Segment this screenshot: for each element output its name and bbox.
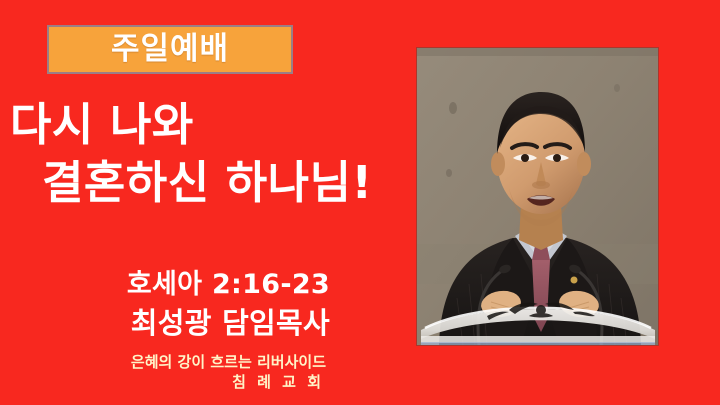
church-name-line-2: 침 례 교 회 — [0, 372, 326, 392]
church-name-line-1: 은혜의 강이 흐르는 리버사이드 — [0, 352, 326, 372]
service-type-banner: 주일예배 — [47, 25, 293, 74]
church-name-block: 은혜의 강이 흐르는 리버사이드 침 례 교 회 — [0, 352, 326, 393]
speaker-photo — [417, 48, 658, 345]
service-type-label: 주일예배 — [111, 34, 229, 65]
scripture-reference: 호세아 2:16-23 — [0, 268, 330, 303]
speaker-photo-illustration — [417, 48, 658, 345]
sermon-title: 다시 나와 결혼하신 하나님! — [0, 96, 430, 211]
sermon-title-line-2: 결혼하신 하나님! — [0, 154, 430, 212]
preacher-name: 최성광 담임목사 — [0, 305, 330, 343]
sermon-title-line-1: 다시 나와 — [0, 96, 430, 154]
sermon-slide: 주일예배 다시 나와 결혼하신 하나님! 호세아 2:16-23 최성광 담임목… — [0, 0, 720, 405]
reference-block: 호세아 2:16-23 최성광 담임목사 — [0, 268, 330, 342]
